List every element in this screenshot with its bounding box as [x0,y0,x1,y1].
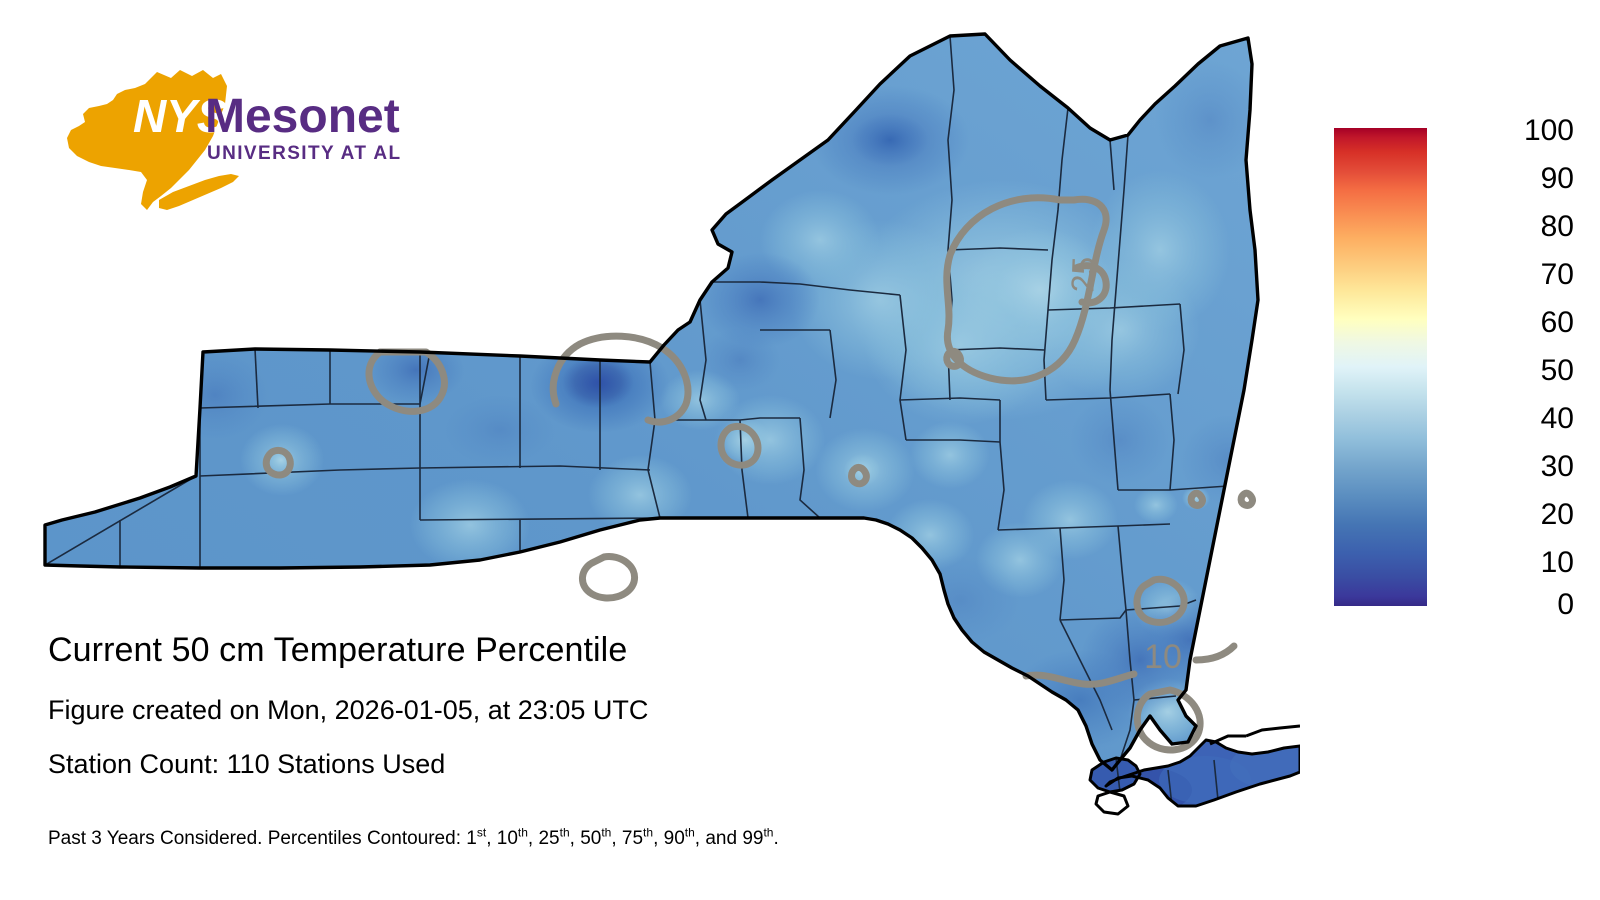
colorbar-tick-40: 40 [1541,404,1574,434]
colorbar-tick-90: 90 [1541,164,1574,194]
colorbar-gradient [1334,128,1427,606]
colorbar-tick-60: 60 [1541,308,1574,338]
percentile-footnote: Past 3 Years Considered. Percentiles Con… [48,827,779,851]
staten-island-outline [1096,792,1128,814]
peconic-outline [1210,736,1246,744]
contour-dot-columbia [1241,493,1252,505]
colorbar-tick-30: 30 [1541,452,1574,482]
nys-mesonet-logo: NYS Mesonet UNIVERSITY AT ALBANY [55,60,400,220]
colorbar-tick-70: 70 [1541,260,1574,290]
north-fork-outline [1246,726,1300,736]
station-count-text: Station Count: 110 Stations Used [48,748,445,780]
contour-southern-tier [582,557,634,598]
contour-10-east [1196,646,1234,660]
colorbar-tick-labels: 100 90 80 70 60 50 40 30 20 10 0 [1435,128,1574,606]
colorbar-tick-10: 10 [1541,548,1574,578]
colorbar-tick-50: 50 [1541,356,1574,386]
logo-mesonet-text: Mesonet [205,90,400,143]
contour-label-25: 25 [1064,256,1101,293]
contour-label-10: 10 [1144,638,1182,676]
colorbar-tick-0: 0 [1557,590,1574,620]
logo-university-text: UNIVERSITY AT ALBANY [207,143,400,164]
percentile-colorbar: 100 90 80 70 60 50 40 30 20 10 0 [1334,128,1574,608]
colorbar-tick-20: 20 [1541,500,1574,530]
colorbar-tick-80: 80 [1541,212,1574,242]
colorbar-tick-100: 100 [1524,116,1574,146]
figure-title: Current 50 cm Temperature Percentile [48,630,627,670]
figure-created-timestamp: Figure created on Mon, 2026-01-05, at 23… [48,694,648,726]
